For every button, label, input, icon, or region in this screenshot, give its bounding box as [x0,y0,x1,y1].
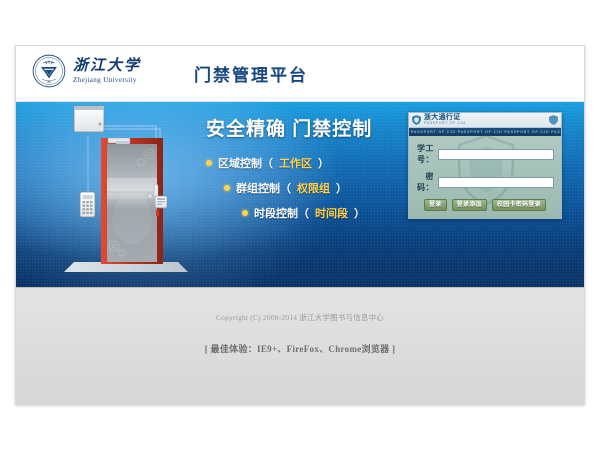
bullet-icon [206,160,212,166]
hero-feature-tail: ） [354,205,365,221]
login-panel: 浙大通行证 PASSPORT OF ZJU PASSPORT OF ZJU PA… [408,112,562,219]
copyright-text: Copyright (C) 2008-2014 浙江大学图书与信息中心 [16,312,584,323]
shield-icon [412,115,421,125]
field-row-password: 密 码： [417,171,553,193]
password-input[interactable] [438,177,554,188]
footer-content: Copyright (C) 2008-2014 浙江大学图书与信息中心 [ 最佳… [16,312,584,355]
browser-compatibility-note: [ 最佳体验：IE9+、FireFox、Chrome浏览器 ] [16,342,584,355]
page-card: 1897 浙江大学 Zhejiang University 门禁管理平台 [15,45,585,405]
userid-input[interactable] [438,149,554,160]
page-title: 门禁管理平台 [194,61,308,86]
bullet-icon [224,185,230,191]
hero-feature-text: 时段控制（ [254,205,309,221]
hero-feature-tail: ） [318,155,329,171]
brand-logo[interactable]: 1897 浙江大学 Zhejiang University [32,54,141,88]
userid-label: 学工号： [417,143,434,165]
login-button[interactable]: 登录 [424,199,447,211]
hero-feature-text: 群组控制（ [236,180,291,196]
hero-headline: 安全精确 门禁控制 [206,114,421,141]
passport-watermark-strip: PASSPORT OF ZJU PASSPORT OF ZJU PASSPORT… [409,128,561,136]
login-panel-subtitle: PASSPORT OF ZJU [424,122,466,126]
brand-name-cn: 浙江大学 [73,59,141,74]
field-row-userid: 学工号： [417,143,553,165]
zju-seal-icon: 1897 [32,54,66,88]
svg-text:1897: 1897 [46,81,52,84]
login-form: 学工号： 密 码： 登录 登录添加 校园卡密码登录 [409,136,561,211]
hero-feature-highlight: 工作区 [279,155,312,171]
site-footer: Copyright (C) 2008-2014 浙江大学图书与信息中心 [ 最佳… [16,287,584,405]
hero-feature-text: 区域控制（ [218,155,273,171]
bullet-icon [242,210,248,216]
hero-feature-item: 区域控制（工作区） [206,155,421,171]
access-control-door-illustration [56,102,206,285]
password-label: 密 码： [417,171,434,193]
hero-feature-item: 群组控制（权限组） [224,180,421,196]
campus-card-password-login-button[interactable]: 校园卡密码登录 [492,199,546,211]
login-panel-title-group: 浙大通行证 PASSPORT OF ZJU [424,114,466,126]
shield-icon-secondary [549,115,558,125]
hero-feature-item: 时段控制（时间段） [242,205,421,221]
hero-copy: 安全精确 门禁控制 区域控制（工作区） 群组控制（权限组） 时段控制（时间段） [206,114,421,230]
hero-feature-list: 区域控制（工作区） 群组控制（权限组） 时段控制（时间段） [206,155,421,221]
hero-feature-tail: ） [336,180,347,196]
site-header: 1897 浙江大学 Zhejiang University 门禁管理平台 [16,46,584,102]
login-panel-titlebar: 浙大通行证 PASSPORT OF ZJU [409,113,561,128]
login-panel-title: 浙大通行证 [424,114,466,121]
login-add-button[interactable]: 登录添加 [452,199,487,211]
hero-banner: 安全精确 门禁控制 区域控制（工作区） 群组控制（权限组） 时段控制（时间段） [16,102,584,287]
hero-feature-highlight: 权限组 [297,180,330,196]
brand-wordmark: 浙江大学 Zhejiang University [73,59,141,84]
hero-feature-highlight: 时间段 [315,205,348,221]
login-button-group: 登录 登录添加 校园卡密码登录 [417,199,553,211]
brand-name-en: Zhejiang University [73,77,141,84]
